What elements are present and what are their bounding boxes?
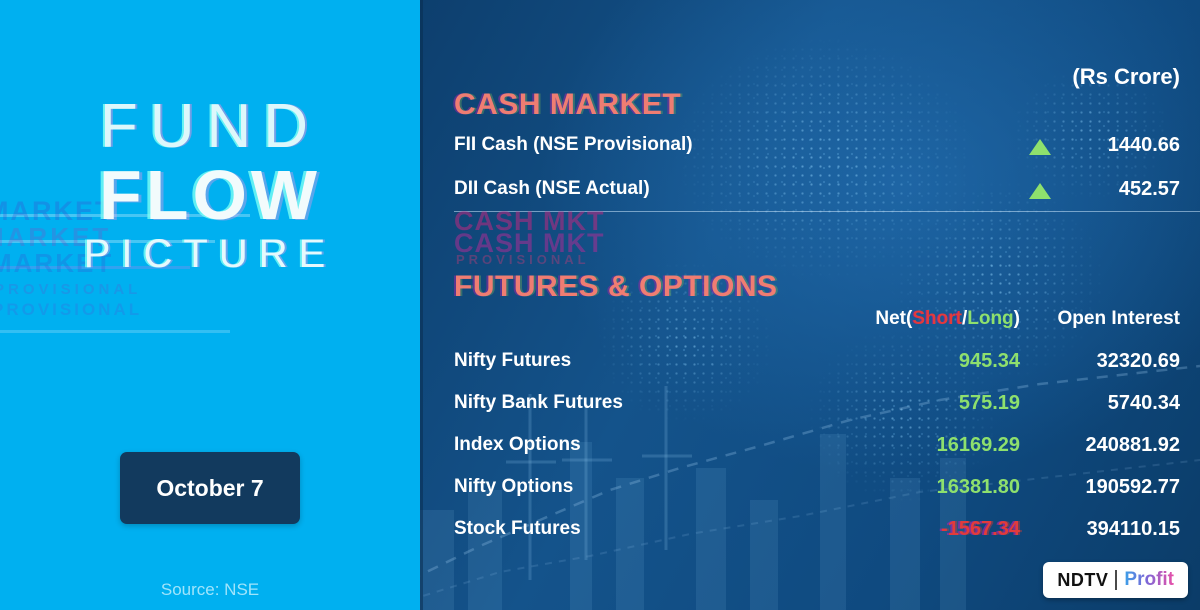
data-panel: (Rs Crore) CASH MARKET FII Cash (NSE Pro… — [420, 0, 1200, 610]
cash-row-value-fii: 1440.66 — [1108, 134, 1180, 157]
brand-line-fund: FUND — [0, 96, 420, 158]
glitch-ghost-text: PROVISIONAL — [0, 300, 142, 320]
brand-line-picture: PICTURE — [0, 234, 420, 274]
fo-row-net-nifty-bank-futures: 575.19 — [959, 392, 1020, 415]
fo-row-net-nifty-options: 16381.80 — [937, 476, 1020, 499]
fo-row-oi-nifty-options: 190592.77 — [1085, 476, 1180, 499]
fo-row-net-nifty-futures: 945.34 — [959, 350, 1020, 373]
fo-row-label-nifty-options: Nifty Options — [454, 476, 573, 498]
fo-row-net-stock-futures: -1567.34 — [941, 518, 1020, 541]
cash-row-label-fii: FII Cash (NSE Provisional) — [454, 134, 693, 156]
glitch-ghost-text: PROVISIONAL — [0, 281, 141, 298]
cash-market-heading: CASH MARKET — [454, 88, 681, 122]
column-header-net: Net(Short/Long) — [875, 308, 1020, 330]
unit-label: (Rs Crore) — [1072, 64, 1180, 90]
ndtv-profit-logo: NDTV Profit — [1043, 562, 1188, 598]
up-arrow-icon — [1029, 183, 1051, 199]
cash-row-label-dii: DII Cash (NSE Actual) — [454, 178, 650, 200]
section-divider — [454, 211, 1200, 212]
source-label: Source: NSE — [0, 580, 420, 600]
profit-wordmark: Profit — [1124, 569, 1174, 591]
panel-seam — [420, 0, 423, 610]
net-long-label: Long — [967, 308, 1013, 329]
logo-divider — [1115, 570, 1117, 590]
fo-row-oi-nifty-bank-futures: 5740.34 — [1108, 392, 1180, 415]
fo-row-oi-index-options: 240881.92 — [1085, 434, 1180, 457]
fo-row-oi-stock-futures: 394110.15 — [1087, 518, 1180, 541]
net-suffix: ) — [1014, 308, 1020, 329]
fo-row-label-stock-futures: Stock Futures — [454, 518, 581, 540]
net-short-label: Short — [912, 308, 962, 329]
ndtv-wordmark: NDTV — [1057, 570, 1108, 591]
fund-flow-graphic: MARKET MARKET MARKET PROVISIONAL PROVISI… — [0, 0, 1200, 610]
fo-row-net-index-options: 16169.29 — [937, 434, 1020, 457]
futures-options-heading: FUTURES & OPTIONS — [454, 270, 778, 304]
column-header-open-interest: Open Interest — [1058, 308, 1180, 330]
fo-row-oi-nifty-futures: 32320.69 — [1097, 350, 1180, 373]
brand-line-flow: FLOW — [0, 160, 420, 230]
brand-panel: MARKET MARKET MARKET PROVISIONAL PROVISI… — [0, 0, 420, 610]
fo-row-label-nifty-futures: Nifty Futures — [454, 350, 571, 372]
up-arrow-icon — [1029, 139, 1051, 155]
brand-title: FUND FLOW PICTURE — [0, 96, 420, 274]
fo-row-label-nifty-bank-futures: Nifty Bank Futures — [454, 392, 623, 414]
date-badge: October 7 — [120, 452, 300, 524]
cash-row-value-dii: 452.57 — [1119, 178, 1180, 201]
fo-row-label-index-options: Index Options — [454, 434, 581, 456]
glitch-scanline — [0, 330, 230, 333]
net-prefix: Net( — [875, 308, 912, 329]
